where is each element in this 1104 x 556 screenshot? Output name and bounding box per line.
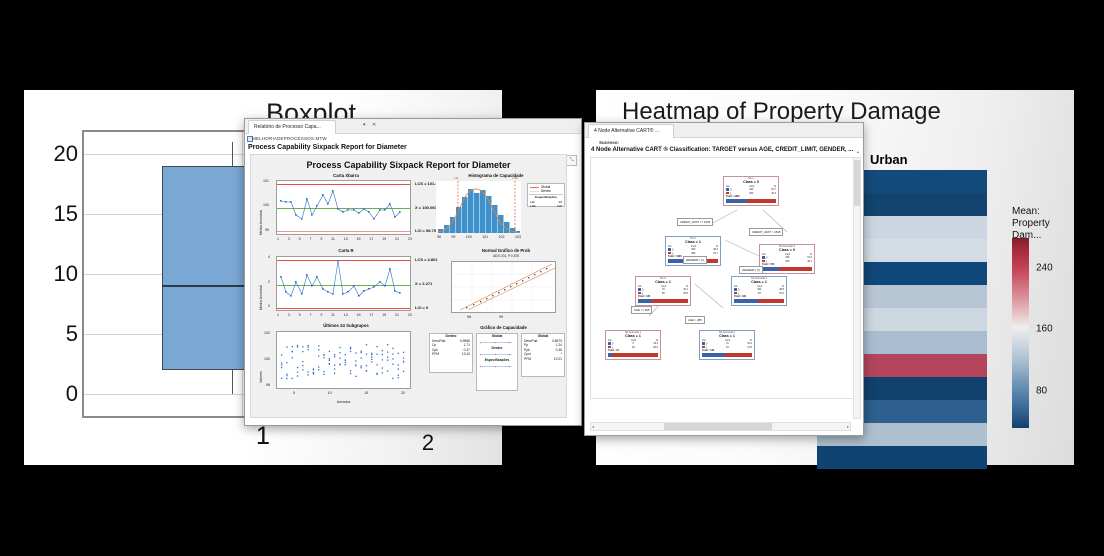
- node-bar: [726, 199, 776, 203]
- xbar-chart-title: Carta Xbarra: [271, 173, 421, 178]
- cart-split-age-right: AGE > 285: [685, 316, 705, 324]
- node-bar: [734, 299, 784, 303]
- rchart-x-ticks: 13 57 911 1315 1719 2123: [277, 313, 412, 317]
- histogram-title: Histograma de Capacidade: [431, 173, 561, 178]
- probplot-title: Normal Gráfico de Prob: [451, 248, 561, 253]
- lastsub-xlabel: Amostra: [276, 400, 411, 404]
- node-bar: [702, 353, 752, 357]
- lastsub-ylabel: Valores: [259, 371, 263, 383]
- node-bar: [608, 353, 658, 357]
- cart-node-terminal-3[interactable]: Nó Terminal 3 Class = 0 ClsCont% 043661.…: [759, 244, 815, 274]
- legend-within-label: Dentro: [541, 189, 551, 193]
- rchart-title: Carta R: [271, 248, 421, 253]
- y-tick-label: 101: [263, 179, 269, 183]
- cart-heading: 4 Node Alternative CART ® Classification…: [591, 147, 853, 153]
- sixpack-canvas: Process Capability Sixpack Report for Di…: [250, 154, 567, 418]
- rchart-center-label: X = 2.271: [415, 281, 432, 286]
- cart-split-left: CREDIT_LIMIT <= 1545: [677, 218, 713, 226]
- cart-split-gender-left: GENDER = (f): [683, 256, 707, 264]
- expand-icon[interactable]: ⤡: [566, 155, 577, 166]
- rchart-ucl-label: LCS = 4.801: [415, 257, 438, 262]
- capability-within-table: Dentro DesvPad0.9566 Cp1.71 Cpk0.37 PPM1…: [429, 333, 473, 373]
- node-total: Total = 31: [608, 349, 658, 352]
- colorbar: [1012, 238, 1029, 428]
- tab-bar: 4 Node Alternative CART® ...: [585, 123, 863, 138]
- cart-node-root[interactable]: Nó 1 Class = 0 ClsCont% 096653.7 183446.…: [723, 176, 779, 206]
- scroll-up-icon[interactable]: ▴: [857, 149, 859, 154]
- tab-process-capability[interactable]: Relatório de Processo Capa...: [248, 120, 336, 134]
- node-total: Total = 165: [638, 295, 688, 298]
- y-tick-label: 4: [268, 255, 270, 259]
- probplot-x-tick: 98: [467, 315, 471, 319]
- spec-high-label: LSE: [512, 176, 518, 180]
- histogram-legend: Global Dentro Especificações LIE99 LSE10…: [527, 183, 565, 207]
- within-row: PPM13.43: [430, 352, 472, 356]
- cart-node-terminal-2[interactable]: Nó Terminal 2 Class = 1 ClsCont% 07052.2…: [699, 330, 755, 360]
- minitab-sixpack-window[interactable]: Relatório de Processo Capa... ▾ ✕ MELHOR…: [244, 118, 582, 426]
- chart-title: Process Capability Sixpack Report for Di…: [251, 160, 566, 170]
- xbar-series: [277, 181, 410, 234]
- spec-low-label: LIE: [454, 176, 459, 180]
- xbar-x-ticks: 13 57 911 1315 1719 2123: [277, 237, 412, 241]
- lastsub-title: Últimos 24 Subgrupos: [271, 323, 421, 328]
- capability-global-table: Global DesvPad0.8873 Pp1.24 Ppk0.36 Cpm*…: [521, 333, 565, 377]
- tree-edges: [591, 158, 853, 398]
- global-row: PPM12.01: [522, 357, 564, 361]
- screen: Boxplot 20 15 10 5 0 1 Heatmap of: [0, 0, 1104, 556]
- scroll-right-icon[interactable]: ▸: [847, 424, 849, 429]
- cart-subtitle: Sucesso:: [599, 140, 619, 145]
- cart-split-age-left: AGE <= 285: [631, 306, 652, 314]
- y-tick-label: 100: [263, 203, 269, 207]
- tab-bar: Relatório de Processo Capa... ▾ ✕: [245, 119, 581, 134]
- scroll-thumb[interactable]: [854, 160, 860, 206]
- lastsub-x-ticks: 510 1520: [293, 391, 405, 395]
- minitab-cart-window[interactable]: 4 Node Alternative CART® ... Sucesso: 4 …: [584, 122, 864, 436]
- xbar-lcl-label: LCI = 98.751: [415, 228, 438, 233]
- cart-node-3[interactable]: Nó 3 Class = 1 ClsCont% 07646.1 18953.9 …: [635, 276, 691, 306]
- heatmap-column-label: Urban: [870, 152, 908, 167]
- capability-scale-panel: Global +++ Dentro +++ Especificações +++: [476, 333, 518, 391]
- legend-tick: 240: [1036, 263, 1053, 274]
- rchart-lcl-label: LCI = 0: [415, 305, 428, 310]
- y-tick-label: 100: [264, 357, 270, 361]
- node-bar: [638, 299, 688, 303]
- capability-title: Gráfico de Capacidade: [441, 325, 566, 330]
- report-heading: Process Capability Sixpack Report for Di…: [248, 144, 407, 151]
- spec-row: LSE100: [528, 204, 564, 208]
- cart-split-gender-right: GENDER = (f): [739, 266, 763, 274]
- histogram-bars: [436, 181, 521, 233]
- rchart-ylabel: Média Amostral: [259, 285, 263, 310]
- legend-tick: 160: [1036, 324, 1053, 335]
- heatmap-cell: [817, 446, 987, 469]
- chevron-down-icon[interactable]: ▾: [363, 122, 366, 128]
- cart-node-terminal-4[interactable]: Nó Terminal 4 Class = 1 ClsCont% 045448.…: [731, 276, 787, 306]
- cart-tree-canvas: Nó 1 Class = 0 ClsCont% 096653.7 183446.…: [590, 157, 854, 399]
- probplot-x-tick: 99: [499, 315, 503, 319]
- xbar-plot-frame: [276, 180, 411, 235]
- close-icon[interactable]: ✕: [372, 122, 376, 128]
- probplot-frame: [451, 261, 556, 313]
- rchart-series: [277, 257, 410, 310]
- rchart-plot-frame: [276, 256, 411, 311]
- y-tick-label: 0: [268, 304, 270, 308]
- histogram-x-ticks: 9899 100101 102103: [437, 235, 521, 239]
- lastsub-plot-frame: [276, 331, 411, 389]
- node-total: Total = 1800: [726, 195, 776, 198]
- lastsub-points: [277, 332, 410, 388]
- slide-number-2: 2: [268, 430, 588, 456]
- probplot-subtitle: AD:0.201, P:0.878: [451, 254, 561, 258]
- horizontal-scrollbar[interactable]: ◂ ▸: [590, 422, 851, 431]
- cart-split-right: CREDIT_LIMIT > 1545: [749, 228, 783, 236]
- node-bar: [762, 267, 812, 271]
- probplot-points: [452, 262, 555, 312]
- legend-title-line1: Mean:: [1012, 206, 1074, 218]
- xbar-center-label: X = 100.060: [415, 205, 437, 210]
- legend-tick: 80: [1036, 386, 1047, 397]
- y-tick-label: 15: [38, 201, 78, 227]
- scroll-thumb[interactable]: [664, 423, 773, 430]
- y-tick-label: 5: [38, 321, 78, 347]
- y-tick-label: 2: [268, 280, 270, 284]
- y-tick-label: 20: [38, 141, 78, 167]
- scroll-left-icon[interactable]: ◂: [592, 424, 594, 429]
- y-tick-label: 10: [38, 261, 78, 287]
- y-tick-label: 102: [264, 331, 270, 335]
- vertical-scrollbar[interactable]: [853, 157, 861, 419]
- cart-node-terminal-1[interactable]: Nó Terminal 1 Class = 1 ClsCont% 0619.4 …: [605, 330, 661, 360]
- node-total: Total = 134: [702, 349, 752, 352]
- node-total: Total = 931: [734, 295, 784, 298]
- worksheet-name: MELHORIADEPROCESSOS.MTW: [252, 136, 327, 141]
- whisker-lower: [232, 370, 233, 394]
- xbar-ylabel: Média Amostral: [259, 210, 263, 235]
- y-tick-label: 99: [265, 228, 269, 232]
- legend-title: Mean: Property Dam...: [1012, 206, 1074, 242]
- tab-cart-classification[interactable]: 4 Node Alternative CART® ...: [588, 124, 674, 138]
- heatmap-legend: Mean: Property Dam... 240 160 80: [1012, 206, 1074, 242]
- y-tick-label: 98: [266, 383, 270, 387]
- histogram-plot: [436, 181, 521, 233]
- y-tick-label: 0: [38, 381, 78, 407]
- whisker-upper: [232, 142, 233, 166]
- node-total: Total = 704: [762, 263, 812, 266]
